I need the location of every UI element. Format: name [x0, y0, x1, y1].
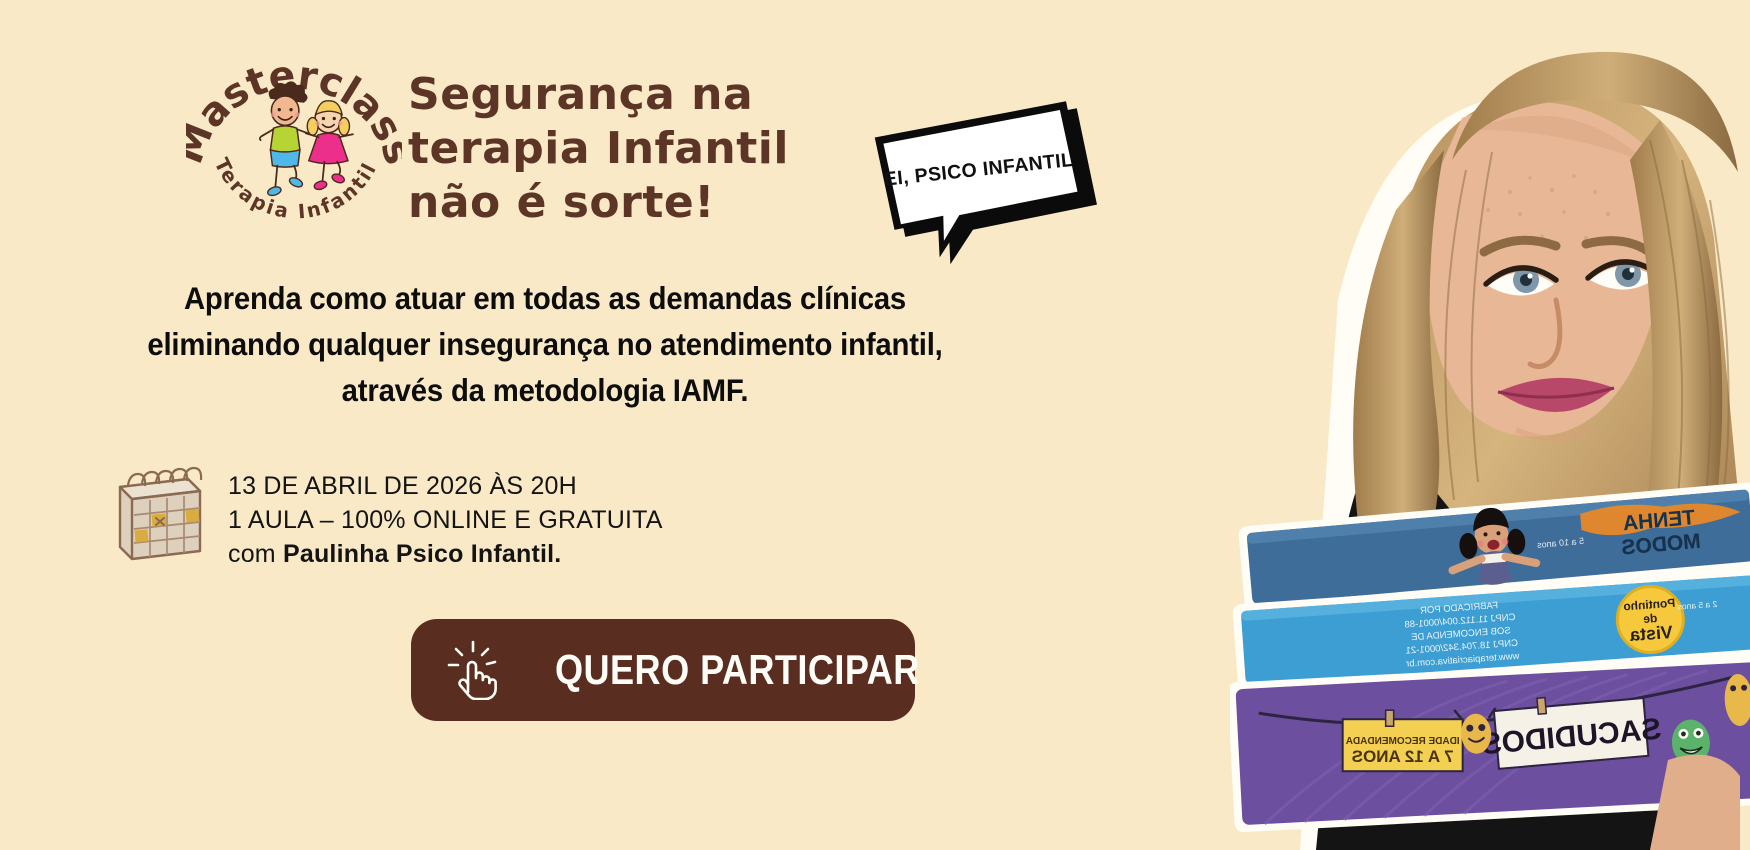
headline-line-3: não é sorte!: [408, 176, 878, 230]
subheadline: Aprenda como atuar em todas as demandas …: [75, 276, 1014, 414]
cta-label: QUERO PARTICIPAR: [555, 646, 920, 694]
svg-text:IDADE RECOMENDADA: IDADE RECOMENDADA: [1346, 736, 1460, 747]
headline: Segurança na terapia Infantil não é sort…: [408, 68, 878, 230]
subheadline-line-3: através da metodologia IAMF.: [75, 368, 1014, 414]
event-format: 1 AULA – 100% ONLINE E GRATUITA: [228, 503, 663, 537]
quero-participar-button[interactable]: QUERO PARTICIPAR: [411, 619, 915, 721]
calendar-icon: [110, 465, 210, 561]
subheadline-line-2: eliminando qualquer insegurança no atend…: [75, 322, 1014, 368]
headline-line-1: Segurança na: [408, 68, 878, 122]
subheadline-line-1: Aprenda como atuar em todas as demandas …: [75, 276, 1014, 322]
event-host: com Paulinha Psico Infantil.: [228, 537, 663, 571]
event-details: 13 DE ABRIL DE 2026 ÀS 20H 1 AULA – 100%…: [110, 455, 663, 571]
event-text-block: 13 DE ABRIL DE 2026 ÀS 20H 1 AULA – 100%…: [228, 455, 663, 571]
headline-line-2: terapia Infantil: [408, 122, 878, 176]
event-date: 13 DE ABRIL DE 2026 ÀS 20H: [228, 469, 663, 503]
click-hand-icon: [447, 640, 501, 700]
event-host-prefix: com: [228, 540, 283, 568]
masterclass-logo: Masterclass Terapia Infantil: [186, 38, 402, 254]
presenter-photo: TENHA MODOS TENHA MODOS 5 a 10 anos: [1230, 0, 1750, 850]
svg-text:7 A 12 ANOS: 7 A 12 ANOS: [1352, 747, 1454, 766]
speech-bubble: EI, PSICO INFANTIL: [872, 112, 1102, 262]
promo-banner: Masterclass Terapia Infantil: [0, 0, 1750, 850]
svg-text:Vista: Vista: [1628, 622, 1673, 645]
event-host-name: Paulinha Psico Infantil.: [283, 540, 561, 568]
